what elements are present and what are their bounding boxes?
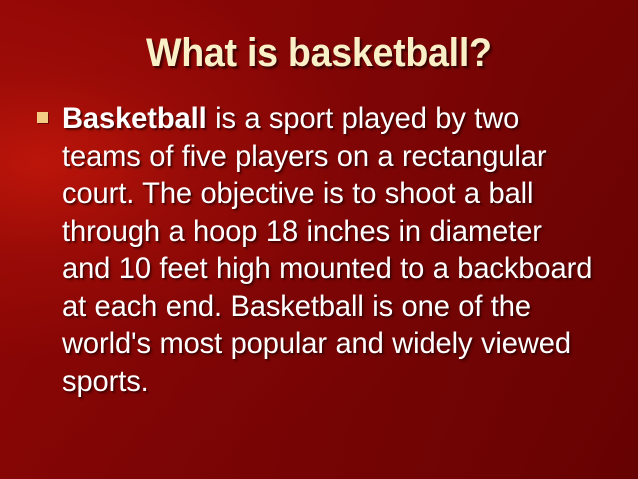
bullet-paragraph: Basketball is a sport played by two team…	[62, 100, 597, 400]
slide-title-block: What is basketball?	[0, 30, 638, 76]
page-title: What is basketball?	[146, 30, 492, 76]
list-item: Basketball is a sport played by two team…	[34, 100, 614, 400]
bullet-body-text: is a sport played by two teams of five p…	[62, 102, 592, 398]
bullet-lead-term: Basketball	[62, 102, 207, 135]
square-bullet-icon	[37, 112, 48, 123]
slide-body-block: Basketball is a sport played by two team…	[34, 100, 614, 400]
slide-canvas: What is basketball? Basketball is a spor…	[0, 0, 638, 479]
